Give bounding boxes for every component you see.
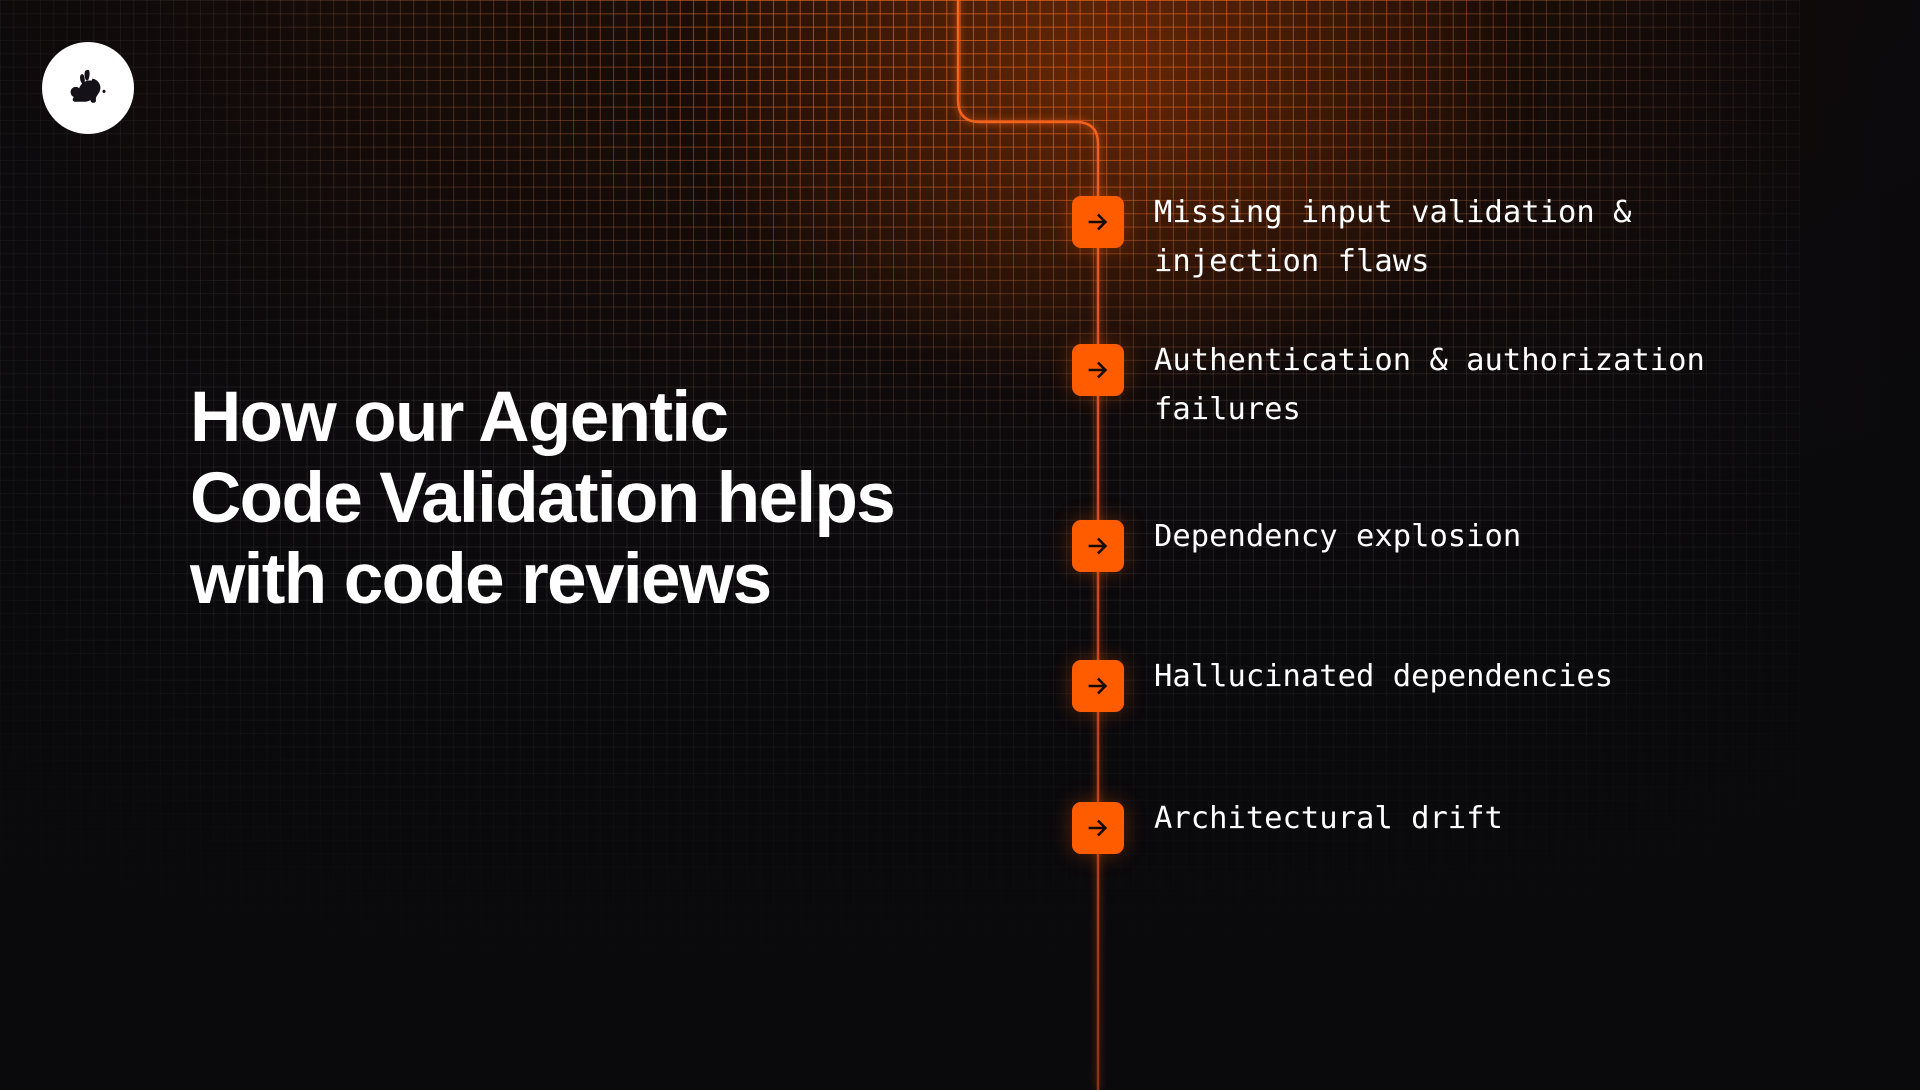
list-item-label: Architectural drift bbox=[1154, 795, 1503, 844]
list-item[interactable]: Missing input validation & injection fla… bbox=[1072, 196, 1631, 287]
slide-canvas: How our Agentic Code Validation helps wi… bbox=[0, 0, 1920, 1090]
page-title-line-1: How our Agentic bbox=[190, 378, 1010, 459]
page-title-line-2: Code Validation helps bbox=[190, 459, 1010, 540]
arrow-right-icon[interactable] bbox=[1072, 344, 1124, 396]
arrow-right-icon[interactable] bbox=[1072, 802, 1124, 854]
rabbit-icon bbox=[62, 62, 114, 114]
list-item[interactable]: Hallucinated dependencies bbox=[1072, 660, 1613, 712]
arrow-right-icon[interactable] bbox=[1072, 520, 1124, 572]
list-item[interactable]: Dependency explosion bbox=[1072, 520, 1521, 572]
brand-logo[interactable] bbox=[42, 42, 134, 134]
list-item[interactable]: Architectural drift bbox=[1072, 802, 1503, 854]
arrow-right-icon[interactable] bbox=[1072, 660, 1124, 712]
list-item-label: Missing input validation & injection fla… bbox=[1154, 189, 1631, 287]
page-title: How our Agentic Code Validation helps wi… bbox=[190, 378, 1010, 621]
list-item[interactable]: Authentication & authorization failures bbox=[1072, 344, 1705, 435]
list-item-label: Hallucinated dependencies bbox=[1154, 653, 1613, 702]
list-item-label: Dependency explosion bbox=[1154, 513, 1521, 562]
list-item-label: Authentication & authorization failures bbox=[1154, 337, 1705, 435]
page-title-line-3: with code reviews bbox=[190, 540, 1010, 621]
arrow-right-icon[interactable] bbox=[1072, 196, 1124, 248]
